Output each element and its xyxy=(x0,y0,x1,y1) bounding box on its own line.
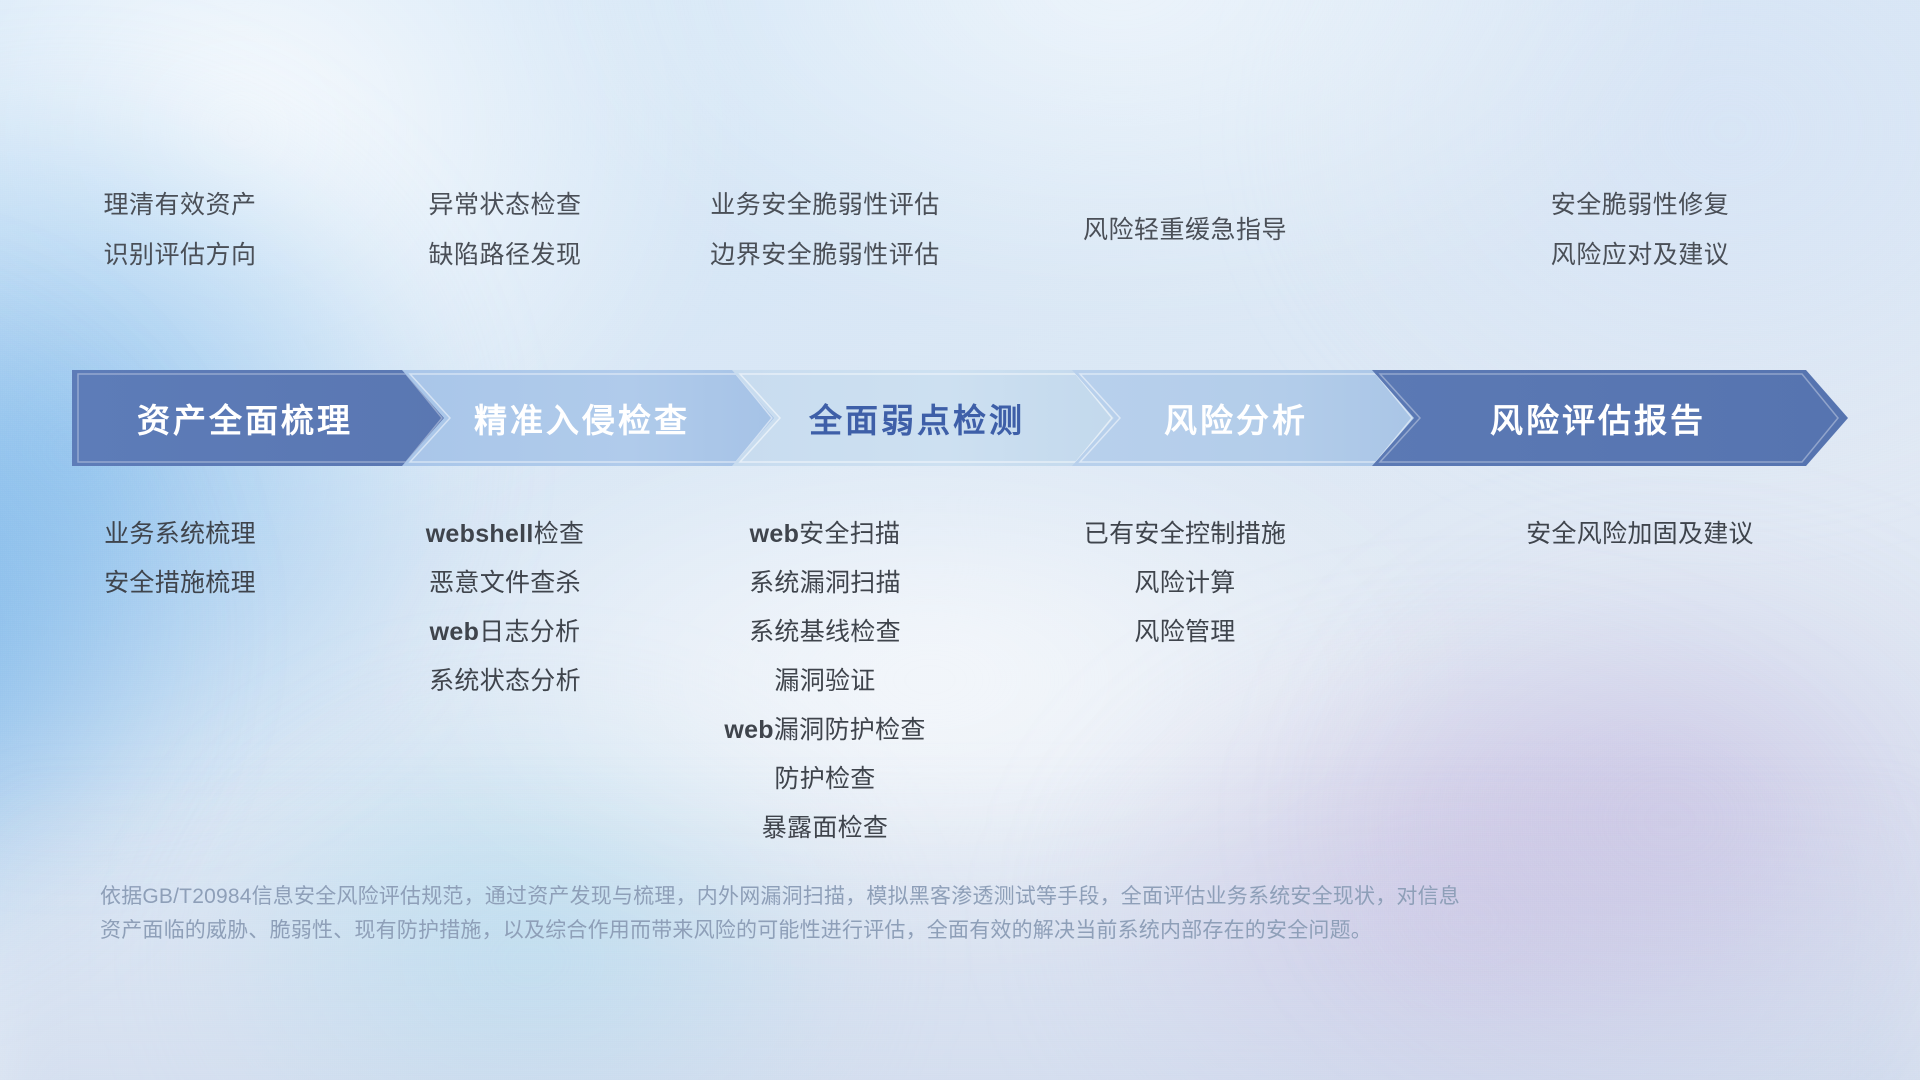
stage-label: 风险评估报告 xyxy=(1490,394,1706,442)
stage-arrow-risk-report[interactable]: 风险评估报告 xyxy=(1372,370,1848,466)
bottom-labels-row: 业务系统梳理 安全措施梳理 webshell检查 恶意文件查杀 web日志分析 … xyxy=(0,510,1920,853)
detail-item: 安全措施梳理 xyxy=(0,559,360,608)
detail-item: webshell检查 xyxy=(360,510,650,559)
detail-item: 风险计算 xyxy=(1000,559,1370,608)
detail-item: 业务系统梳理 xyxy=(0,510,360,559)
detail-item: 漏洞验证 xyxy=(650,657,1000,706)
top-label: 识别评估方向 xyxy=(0,230,360,280)
process-arrow-bar: 资产全面梳理 精准入侵检查 xyxy=(72,370,1848,466)
top-label: 异常状态检查 xyxy=(360,180,650,230)
detail-item: 系统漏洞扫描 xyxy=(650,559,1000,608)
top-label: 理清有效资产 xyxy=(0,180,360,230)
detail-item: 安全风险加固及建议 xyxy=(1370,510,1910,559)
top-label: 业务安全脆弱性评估 xyxy=(650,180,1000,230)
top-labels-intrusion-check: 异常状态检查 缺陷路径发现 xyxy=(360,180,650,280)
stage-arrow-intrusion-check[interactable]: 精准入侵检查 xyxy=(402,370,782,466)
stage-label: 风险分析 xyxy=(1164,394,1308,442)
footer-line: 依据GB/T20984信息安全风险评估规范，通过资产发现与梳理，内外网漏洞扫描，… xyxy=(100,880,1640,914)
detail-item: web安全扫描 xyxy=(650,510,1000,559)
footer-description: 依据GB/T20984信息安全风险评估规范，通过资产发现与梳理，内外网漏洞扫描，… xyxy=(100,880,1640,948)
footer-line: 资产面临的威胁、脆弱性、现有防护措施，以及综合作用而带来风险的可能性进行评估，全… xyxy=(100,914,1640,948)
top-label: 风险应对及建议 xyxy=(1370,230,1910,280)
detail-item: 防护检查 xyxy=(650,755,1000,804)
bottom-labels-risk-report: 安全风险加固及建议 xyxy=(1370,510,1910,559)
stage-arrow-asset-inventory[interactable]: 资产全面梳理 xyxy=(72,370,452,466)
bottom-labels-intrusion-check: webshell检查 恶意文件查杀 web日志分析 系统状态分析 xyxy=(360,510,650,706)
top-labels-risk-report: 安全脆弱性修复 风险应对及建议 xyxy=(1370,180,1910,280)
detail-item: web日志分析 xyxy=(360,608,650,657)
top-labels-risk-analysis: 风险轻重缓急指导 xyxy=(1000,180,1370,255)
bottom-labels-weakness-detection: web安全扫描 系统漏洞扫描 系统基线检查 漏洞验证 web漏洞防护检查 防护检… xyxy=(650,510,1000,853)
detail-item: web漏洞防护检查 xyxy=(650,706,1000,755)
detail-item: 恶意文件查杀 xyxy=(360,559,650,608)
detail-item: 系统基线检查 xyxy=(650,608,1000,657)
stage-label: 资产全面梳理 xyxy=(137,394,353,442)
top-label: 缺陷路径发现 xyxy=(360,230,650,280)
stage-arrow-risk-analysis[interactable]: 风险分析 xyxy=(1072,370,1422,466)
process-diagram: 理清有效资产 识别评估方向 异常状态检查 缺陷路径发现 业务安全脆弱性评估 边界… xyxy=(0,0,1920,1080)
detail-item: 暴露面检查 xyxy=(650,804,1000,853)
stage-label: 精准入侵检查 xyxy=(474,394,690,442)
detail-item: 系统状态分析 xyxy=(360,657,650,706)
detail-item: 已有安全控制措施 xyxy=(1000,510,1370,559)
detail-item: 风险管理 xyxy=(1000,608,1370,657)
top-labels-row: 理清有效资产 识别评估方向 异常状态检查 缺陷路径发现 业务安全脆弱性评估 边界… xyxy=(0,180,1920,320)
top-label: 安全脆弱性修复 xyxy=(1370,180,1910,230)
top-labels-weakness-detection: 业务安全脆弱性评估 边界安全脆弱性评估 xyxy=(650,180,1000,280)
stage-label: 全面弱点检测 xyxy=(809,394,1025,442)
top-label: 风险轻重缓急指导 xyxy=(1000,205,1370,255)
bottom-labels-asset-inventory: 业务系统梳理 安全措施梳理 xyxy=(0,510,360,608)
bottom-labels-risk-analysis: 已有安全控制措施 风险计算 风险管理 xyxy=(1000,510,1370,657)
top-label: 边界安全脆弱性评估 xyxy=(650,230,1000,280)
top-labels-asset-inventory: 理清有效资产 识别评估方向 xyxy=(0,180,360,280)
stage-arrow-weakness-detection[interactable]: 全面弱点检测 xyxy=(732,370,1122,466)
